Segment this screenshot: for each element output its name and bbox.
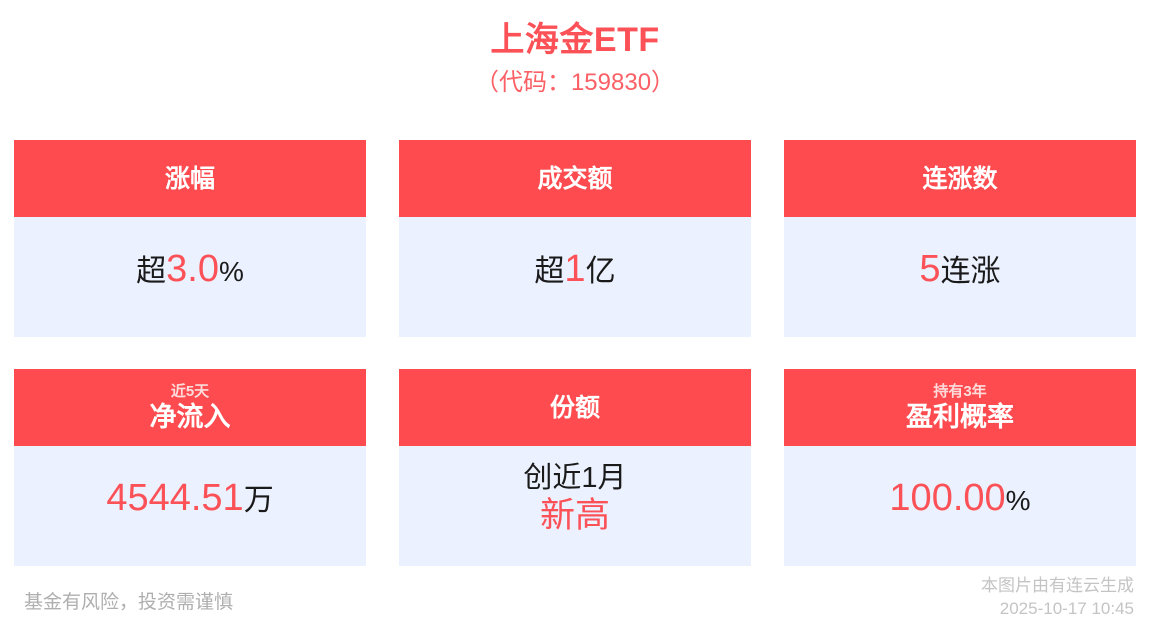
card-header-eyebrow: 持有3年 bbox=[933, 382, 986, 401]
card-header-title: 连涨数 bbox=[922, 164, 997, 194]
page-footer: 基金有风险，投资需谨慎 本图片由有连云生成 2025-10-17 10:45 bbox=[0, 568, 1150, 632]
card-body-change: 超 3.0 % bbox=[14, 217, 366, 337]
card-header-turnover: 成交额 bbox=[399, 140, 751, 217]
metric-card-streak: 连涨数 5 连涨 bbox=[784, 140, 1136, 337]
card-body-streak: 5 连涨 bbox=[784, 217, 1136, 337]
card-header-streak: 连涨数 bbox=[784, 140, 1136, 217]
metric-card-turnover: 成交额 超 1 亿 bbox=[399, 140, 751, 337]
card-body-net-inflow: 4544.51 万 bbox=[14, 446, 366, 566]
value-number: 3.0 bbox=[166, 248, 219, 292]
value-unit: 连涨 bbox=[941, 255, 1001, 290]
value-line-2: 新高 bbox=[540, 495, 610, 537]
card-header-title: 净流入 bbox=[150, 401, 231, 434]
infographic-page: 上海金ETF （代码：159830） 涨幅 超 3.0 % 成交额 bbox=[0, 0, 1150, 632]
card-header-net-inflow: 近5天 净流入 bbox=[14, 369, 366, 446]
card-header-title: 份额 bbox=[550, 393, 600, 423]
credit-source: 本图片由有连云生成 bbox=[981, 574, 1134, 597]
metric-card-net-inflow: 近5天 净流入 4544.51 万 bbox=[14, 369, 366, 566]
value-prefix: 超 bbox=[534, 255, 564, 290]
page-title: 上海金ETF bbox=[0, 18, 1150, 62]
page-header: 上海金ETF （代码：159830） bbox=[0, 0, 1150, 100]
metric-card-change: 涨幅 超 3.0 % bbox=[14, 140, 366, 337]
card-header-title: 涨幅 bbox=[165, 164, 215, 194]
card-header-eyebrow: 近5天 bbox=[171, 382, 209, 401]
card-body-turnover: 超 1 亿 bbox=[399, 217, 751, 337]
value-unit: % bbox=[1006, 485, 1031, 517]
value-unit: % bbox=[219, 256, 244, 288]
credit-timestamp: 2025-10-17 10:45 bbox=[981, 597, 1134, 620]
value-unit: 亿 bbox=[586, 255, 616, 290]
card-header-change: 涨幅 bbox=[14, 140, 366, 217]
metric-card-grid: 涨幅 超 3.0 % 成交额 超 1 亿 bbox=[14, 140, 1136, 566]
value-unit: 万 bbox=[244, 484, 274, 519]
card-header-title: 成交额 bbox=[537, 164, 612, 194]
metric-card-shares: 份额 创近1月 新高 bbox=[399, 369, 751, 566]
value-number: 1 bbox=[564, 248, 585, 292]
card-body-profit-probability: 100.00 % bbox=[784, 446, 1136, 566]
value-number: 100.00 bbox=[889, 477, 1005, 521]
card-header-title: 盈利概率 bbox=[906, 401, 1014, 434]
fund-code-subtitle: （代码：159830） bbox=[0, 66, 1150, 100]
value-prefix: 超 bbox=[136, 255, 166, 290]
card-header-shares: 份额 bbox=[399, 369, 751, 446]
value-number: 4544.51 bbox=[106, 477, 243, 521]
value-number: 5 bbox=[919, 248, 940, 292]
generation-credit: 本图片由有连云生成 2025-10-17 10:45 bbox=[981, 574, 1134, 620]
risk-disclaimer: 基金有风险，投资需谨慎 bbox=[24, 590, 233, 620]
value-line-1: 创近1月 bbox=[523, 461, 626, 496]
card-header-profit-probability: 持有3年 盈利概率 bbox=[784, 369, 1136, 446]
card-body-shares: 创近1月 新高 bbox=[399, 446, 751, 566]
metric-card-profit-probability: 持有3年 盈利概率 100.00 % bbox=[784, 369, 1136, 566]
